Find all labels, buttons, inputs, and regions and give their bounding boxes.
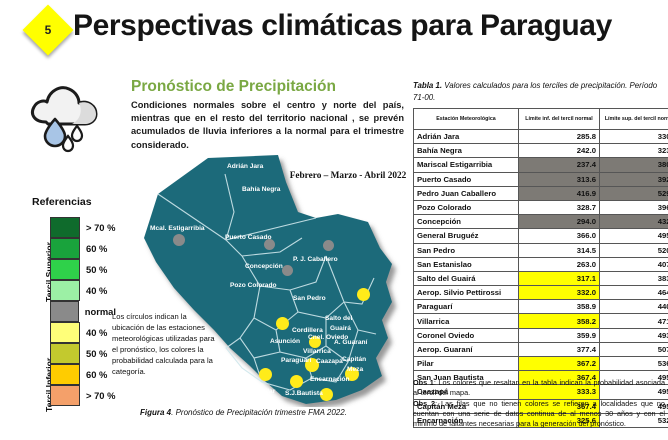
cell-limite-inf: 294.0 <box>519 215 600 229</box>
station-marker <box>282 265 293 276</box>
table-row: Puerto Casado313.6392.0 <box>414 172 668 186</box>
table-row: Pozo Colorado328.7396.9 <box>414 200 668 214</box>
observations-block: Obs 1: Los colores que resaltan en la ta… <box>413 378 665 430</box>
station-marker <box>305 358 319 372</box>
cell-estacion: Adrián Jara <box>414 130 519 144</box>
obs2-text: : Las filas que no tienen colores se ref… <box>413 399 665 428</box>
cell-estacion: Salto del Guairá <box>414 271 519 285</box>
legend-row: > 70 % <box>50 217 116 238</box>
references-title: Referencias <box>32 196 92 208</box>
station-marker <box>259 368 272 381</box>
legend-row: 40 % <box>50 280 116 301</box>
header-limite-sup: Límite sup. del tercil normal <box>600 109 668 130</box>
cell-limite-sup: 536.9 <box>600 357 668 371</box>
cell-limite-inf: 237.4 <box>519 158 600 172</box>
cell-limite-inf: 285.8 <box>519 130 600 144</box>
legend-row: 40 % <box>50 322 116 343</box>
cell-limite-sup: 323.6 <box>600 144 668 158</box>
cell-estacion: Puerto Casado <box>414 172 519 186</box>
table-caption-bold: Tabla 1. <box>413 81 442 90</box>
table-caption-rest: Valores calculados para los terciles de … <box>413 81 657 102</box>
cell-estacion: Aerop. Guaraní <box>414 342 519 356</box>
table-row: Concepción294.0432.0 <box>414 215 668 229</box>
header-limite-inf: Límite inf. del tercil normal <box>519 109 600 130</box>
cell-limite-sup: 520.7 <box>600 243 668 257</box>
legend-row: 50 % <box>50 343 116 364</box>
cell-limite-sup: 493.4 <box>600 328 668 342</box>
observation-2: Obs 2: Las filas que no tienen colores s… <box>413 399 665 429</box>
table-row: Aerop. Guaraní377.4507.1 <box>414 342 668 356</box>
cell-limite-sup: 380.2 <box>600 158 668 172</box>
rain-cloud-icon <box>22 78 108 156</box>
map-period-label: Febrero – Marzo - Abril 2022 <box>286 170 410 183</box>
table-row: Adrián Jara285.8330.5 <box>414 130 668 144</box>
cell-limite-sup: 507.1 <box>600 342 668 356</box>
precipitation-forecast-map: Adrián JaraBahía NegraMcal. Estigarribia… <box>130 152 412 407</box>
table-row: San Estanislao263.0407.6 <box>414 257 668 271</box>
cell-limite-inf: 358.2 <box>519 314 600 328</box>
cell-limite-inf: 313.6 <box>519 172 600 186</box>
cell-estacion: San Estanislao <box>414 257 519 271</box>
forecast-section-title: Pronóstico de Precipitación <box>131 78 336 96</box>
cell-limite-sup: 440.0 <box>600 300 668 314</box>
figure-caption-rest: . Pronóstico de Precipitación trimestre … <box>171 408 347 417</box>
legend-swatch <box>50 364 80 385</box>
legend-row: normal <box>50 301 116 322</box>
table-caption: Tabla 1. Valores calculados para los ter… <box>413 80 665 104</box>
legend-swatch <box>50 217 80 238</box>
legend-row: 50 % <box>50 259 116 280</box>
table-row: Coronel Oviedo359.9493.4 <box>414 328 668 342</box>
table-row: Bahía Negra242.0323.6 <box>414 144 668 158</box>
legend-row: 60 % <box>50 364 116 385</box>
paraguay-map-shape <box>130 152 412 407</box>
legend-swatch <box>50 343 80 364</box>
legend-label: 40 % <box>86 327 107 338</box>
station-marker <box>264 239 275 250</box>
section-number-label: 5 <box>30 12 66 48</box>
cell-estacion: Pozo Colorado <box>414 200 519 214</box>
legend-label: > 70 % <box>86 390 115 401</box>
station-marker <box>323 240 334 251</box>
legend-swatch <box>50 259 80 280</box>
legend-label: 60 % <box>86 369 107 380</box>
cell-limite-inf: 314.5 <box>519 243 600 257</box>
cell-limite-sup: 383.8 <box>600 271 668 285</box>
figure-caption: Figura 4. Pronóstico de Precipitación tr… <box>140 408 420 417</box>
cell-limite-sup: 392.0 <box>600 172 668 186</box>
table-header-row: Estación Meteorológica Límite inf. del t… <box>414 109 668 130</box>
table-row: Paraguarí358.9440.0 <box>414 300 668 314</box>
station-marker <box>290 375 303 388</box>
table-row: General Bruguéz366.0495.9 <box>414 229 668 243</box>
legend-swatch <box>50 280 80 301</box>
cell-limite-sup: 464.1 <box>600 286 668 300</box>
cell-estacion: Bahía Negra <box>414 144 519 158</box>
station-marker <box>357 288 370 301</box>
legend-row: 60 % <box>50 238 116 259</box>
cell-limite-inf: 242.0 <box>519 144 600 158</box>
figure-caption-bold: Figura 4 <box>140 408 171 417</box>
cell-limite-inf: 366.0 <box>519 229 600 243</box>
legend-label: 50 % <box>86 264 107 275</box>
cell-limite-inf: 416.9 <box>519 186 600 200</box>
cell-limite-sup: 396.9 <box>600 200 668 214</box>
cell-estacion: General Bruguéz <box>414 229 519 243</box>
page-header: 5 Perspectivas climáticas para Paraguay <box>0 0 668 58</box>
obs2-label: Obs 2 <box>413 399 435 408</box>
page-title: Perspectivas climáticas para Paraguay <box>73 9 612 43</box>
cell-limite-sup: 432.0 <box>600 215 668 229</box>
cell-limite-inf: 359.9 <box>519 328 600 342</box>
table-row: Aerop. Silvio Pettirossi332.0464.1 <box>414 286 668 300</box>
cell-limite-inf: 328.7 <box>519 200 600 214</box>
cell-estacion: Pedro Juan Caballero <box>414 186 519 200</box>
table-row: Mariscal Estigarribia237.4380.2 <box>414 158 668 172</box>
obs1-label: Obs 1 <box>413 378 434 387</box>
cell-limite-inf: 377.4 <box>519 342 600 356</box>
station-marker <box>173 234 185 246</box>
legend-swatch <box>50 301 79 322</box>
cell-limite-inf: 367.2 <box>519 357 600 371</box>
legend-label: > 70 % <box>86 222 115 233</box>
cell-limite-sup: 495.9 <box>600 229 668 243</box>
table-row: Villarrica358.2471.3 <box>414 314 668 328</box>
observation-1: Obs 1: Los colores que resaltan en la ta… <box>413 378 665 398</box>
legend-label: 60 % <box>86 243 107 254</box>
cell-limite-inf: 263.0 <box>519 257 600 271</box>
station-marker <box>276 317 289 330</box>
cell-estacion: Coronel Oviedo <box>414 328 519 342</box>
table-row: Salto del Guairá317.1383.8 <box>414 271 668 285</box>
probability-legend: > 70 %60 %50 %40 %normal40 %50 %60 %> 70… <box>50 217 116 406</box>
legend-label: 50 % <box>86 348 107 359</box>
cell-estacion: Mariscal Estigarribia <box>414 158 519 172</box>
station-marker <box>309 336 321 348</box>
cell-limite-sup: 529.2 <box>600 186 668 200</box>
header-estacion: Estación Meteorológica <box>414 109 519 130</box>
legend-swatch <box>50 238 80 259</box>
cell-estacion: Paraguarí <box>414 300 519 314</box>
cell-estacion: Aerop. Silvio Pettirossi <box>414 286 519 300</box>
station-marker <box>320 388 333 401</box>
cell-estacion: Concepción <box>414 215 519 229</box>
cell-limite-sup: 330.5 <box>600 130 668 144</box>
legend-row: > 70 % <box>50 385 116 406</box>
station-marker <box>345 367 359 381</box>
obs1-text: : Los colores que resaltan en la tabla i… <box>413 378 665 397</box>
forecast-description: Condiciones normales sobre el centro y n… <box>131 99 404 152</box>
legend-label: 40 % <box>86 285 107 296</box>
cell-estacion: Pilar <box>414 357 519 371</box>
cell-limite-inf: 317.1 <box>519 271 600 285</box>
table-row: Pilar367.2536.9 <box>414 357 668 371</box>
table-row: Pedro Juan Caballero416.9529.2 <box>414 186 668 200</box>
cell-limite-sup: 407.6 <box>600 257 668 271</box>
cell-estacion: Villarrica <box>414 314 519 328</box>
cell-limite-inf: 358.9 <box>519 300 600 314</box>
table-row: San Pedro314.5520.7 <box>414 243 668 257</box>
legend-swatch <box>50 385 80 406</box>
cell-limite-inf: 332.0 <box>519 286 600 300</box>
cell-limite-sup: 471.3 <box>600 314 668 328</box>
cell-estacion: San Pedro <box>414 243 519 257</box>
legend-swatch <box>50 322 80 343</box>
